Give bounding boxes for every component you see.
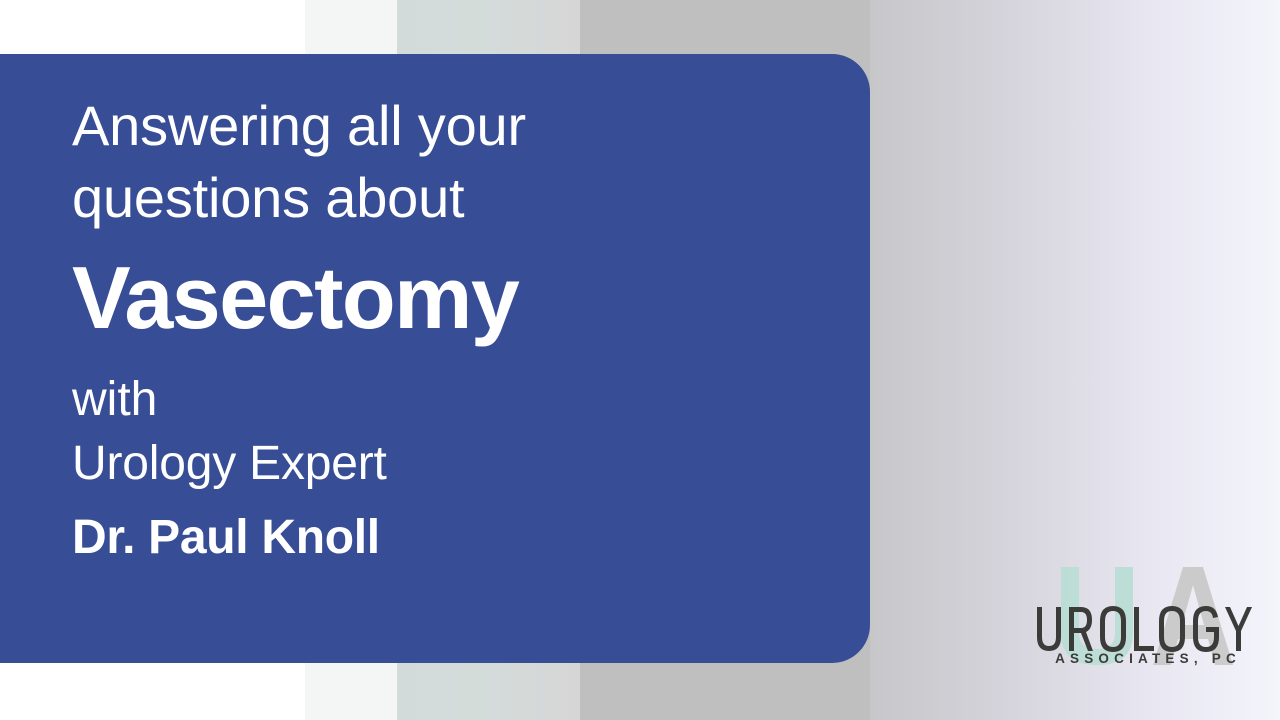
with-label: with <box>72 368 772 432</box>
title-slide: Answering all your questions about Vasec… <box>0 0 1280 720</box>
intro-line-2: questions about <box>72 162 772 234</box>
title-text-block: Answering all your questions about Vasec… <box>72 90 772 570</box>
logo-wordmark-urology-icon <box>1035 605 1257 653</box>
urology-associates-logo: ASSOCIATES, PC <box>1025 565 1265 680</box>
presenter-name: Dr. Paul Knoll <box>72 506 772 570</box>
blue-title-card: Answering all your questions about Vasec… <box>0 54 870 663</box>
intro-line-1: Answering all your <box>72 90 772 162</box>
logo-tagline: ASSOCIATES, PC <box>1037 651 1259 666</box>
topic-heading: Vasectomy <box>72 246 772 350</box>
presenter-role: Urology Expert <box>72 432 772 496</box>
